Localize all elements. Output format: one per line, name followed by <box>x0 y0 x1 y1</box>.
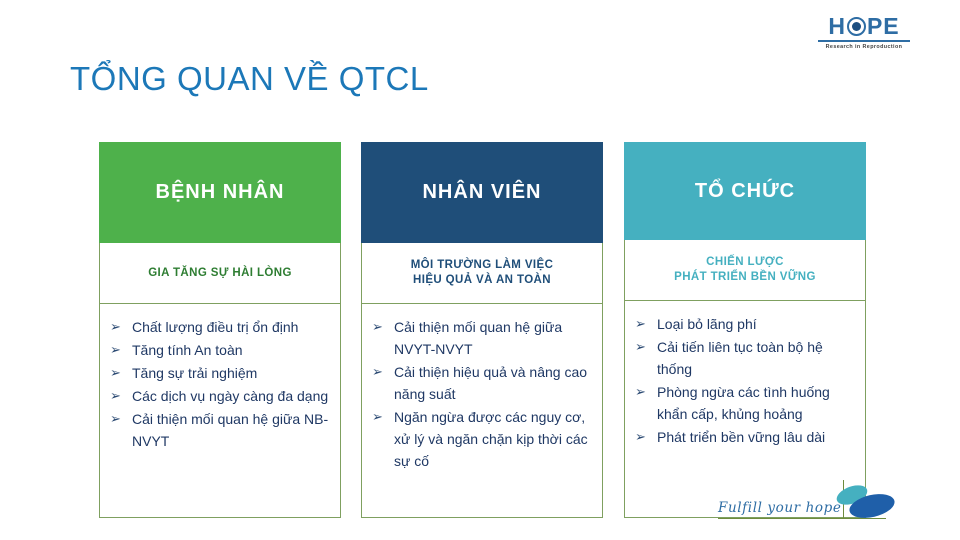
arrow-bullet-icon: ➢ <box>372 406 394 428</box>
bullet-list: ➢ Chất lượng điều trị ổn định ➢ Tăng tín… <box>100 304 340 517</box>
leaf-logo-icon <box>830 480 898 524</box>
logo-letter-h: H <box>828 14 846 38</box>
card-to-chuc: TỔ CHỨC CHIẾN LƯỢC PHÁT TRIỂN BỀN VỮNG ➢… <box>624 142 866 518</box>
page-title: TỔNG QUAN VỀ QTCL <box>70 60 429 98</box>
list-item: ➢ Các dịch vụ ngày càng đa dạng <box>110 385 332 407</box>
list-item: ➢ Cải thiện mối quan hệ giữa NB-NVYT <box>110 408 332 452</box>
bullet-list: ➢ Cải thiện mối quan hệ giữa NVYT-NVYT ➢… <box>362 304 602 517</box>
card-body: GIA TĂNG SỰ HÀI LÒNG ➢ Chất lượng điều t… <box>99 243 341 518</box>
list-item: ➢ Tăng sự trải nghiệm <box>110 362 332 384</box>
arrow-bullet-icon: ➢ <box>110 339 132 361</box>
card-subtitle-line: HIỆU QUẢ VÀ AN TOÀN <box>413 274 551 286</box>
card-body: CHIẾN LƯỢC PHÁT TRIỂN BỀN VỮNG ➢ Loại bỏ… <box>624 240 866 518</box>
list-item-label: Phát triển bền vững lâu dài <box>657 426 857 448</box>
card-benh-nhan: BỆNH NHÂN GIA TĂNG SỰ HÀI LÒNG ➢ Chất lư… <box>99 142 341 518</box>
logo-divider <box>818 40 910 42</box>
logo-letters-pe: PE <box>867 14 900 38</box>
arrow-bullet-icon: ➢ <box>635 426 657 448</box>
arrow-bullet-icon: ➢ <box>372 361 394 383</box>
card-nhan-vien: NHÂN VIÊN MÔI TRƯỜNG LÀM VIỆC HIỆU QUẢ V… <box>361 142 603 518</box>
list-item-label: Ngăn ngừa được các nguy cơ, xử lý và ngă… <box>394 406 594 472</box>
list-item-label: Phòng ngừa các tình huống khẩn cấp, khủn… <box>657 381 857 425</box>
card-subtitle: CHIẾN LƯỢC PHÁT TRIỂN BỀN VỮNG <box>625 240 865 301</box>
list-item: ➢ Loại bỏ lãng phí <box>635 313 857 335</box>
card-subtitle-line: GIA TĂNG SỰ HÀI LÒNG <box>148 267 292 279</box>
list-item: ➢ Ngăn ngừa được các nguy cơ, xử lý và n… <box>372 406 594 472</box>
hope-logo: H PE Research in Reproduction <box>818 14 910 54</box>
bullet-list: ➢ Loại bỏ lãng phí ➢ Cải tiến liên tục t… <box>625 301 865 517</box>
arrow-bullet-icon: ➢ <box>110 362 132 384</box>
list-item-label: Các dịch vụ ngày càng đa dạng <box>132 385 332 407</box>
arrow-bullet-icon: ➢ <box>635 381 657 403</box>
card-subtitle-line: PHÁT TRIỂN BỀN VỮNG <box>674 271 816 283</box>
card-header: NHÂN VIÊN <box>361 142 603 243</box>
list-item-label: Cải thiện mối quan hệ giữa NVYT-NVYT <box>394 316 594 360</box>
list-item: ➢ Cải tiến liên tục toàn bộ hệ thống <box>635 336 857 380</box>
list-item-label: Tăng sự trải nghiệm <box>132 362 332 384</box>
arrow-bullet-icon: ➢ <box>110 385 132 407</box>
arrow-bullet-icon: ➢ <box>635 313 657 335</box>
list-item-label: Cải tiến liên tục toàn bộ hệ thống <box>657 336 857 380</box>
logo-wordmark: H PE <box>818 14 910 38</box>
eye-circle-icon <box>847 17 866 36</box>
card-body: MÔI TRƯỜNG LÀM VIỆC HIỆU QUẢ VÀ AN TOÀN … <box>361 243 603 518</box>
watermark-tagline: Fulfill your hope <box>718 500 841 516</box>
list-item: ➢ Cải thiện mối quan hệ giữa NVYT-NVYT <box>372 316 594 360</box>
card-subtitle-line: CHIẾN LƯỢC <box>706 256 784 268</box>
logo-tagline: Research in Reproduction <box>818 44 910 50</box>
card-header: TỔ CHỨC <box>624 142 866 240</box>
list-item: ➢ Phòng ngừa các tình huống khẩn cấp, kh… <box>635 381 857 425</box>
list-item-label: Loại bỏ lãng phí <box>657 313 857 335</box>
arrow-bullet-icon: ➢ <box>110 408 132 430</box>
list-item: ➢ Tăng tính An toàn <box>110 339 332 361</box>
list-item-label: Cải thiện mối quan hệ giữa NB-NVYT <box>132 408 332 452</box>
watermark: Fulfill your hope <box>718 494 918 538</box>
card-subtitle-line: MÔI TRƯỜNG LÀM VIỆC <box>411 259 554 271</box>
card-subtitle: GIA TĂNG SỰ HÀI LÒNG <box>100 243 340 304</box>
list-item-label: Tăng tính An toàn <box>132 339 332 361</box>
list-item-label: Cải thiện hiệu quả và nâng cao năng suất <box>394 361 594 405</box>
list-item: ➢ Chất lượng điều trị ổn định <box>110 316 332 338</box>
card-subtitle: MÔI TRƯỜNG LÀM VIỆC HIỆU QUẢ VÀ AN TOÀN <box>362 243 602 304</box>
list-item: ➢ Cải thiện hiệu quả và nâng cao năng su… <box>372 361 594 405</box>
arrow-bullet-icon: ➢ <box>110 316 132 338</box>
arrow-bullet-icon: ➢ <box>635 336 657 358</box>
list-item: ➢ Phát triển bền vững lâu dài <box>635 426 857 448</box>
list-item-label: Chất lượng điều trị ổn định <box>132 316 332 338</box>
arrow-bullet-icon: ➢ <box>372 316 394 338</box>
card-header: BỆNH NHÂN <box>99 142 341 243</box>
